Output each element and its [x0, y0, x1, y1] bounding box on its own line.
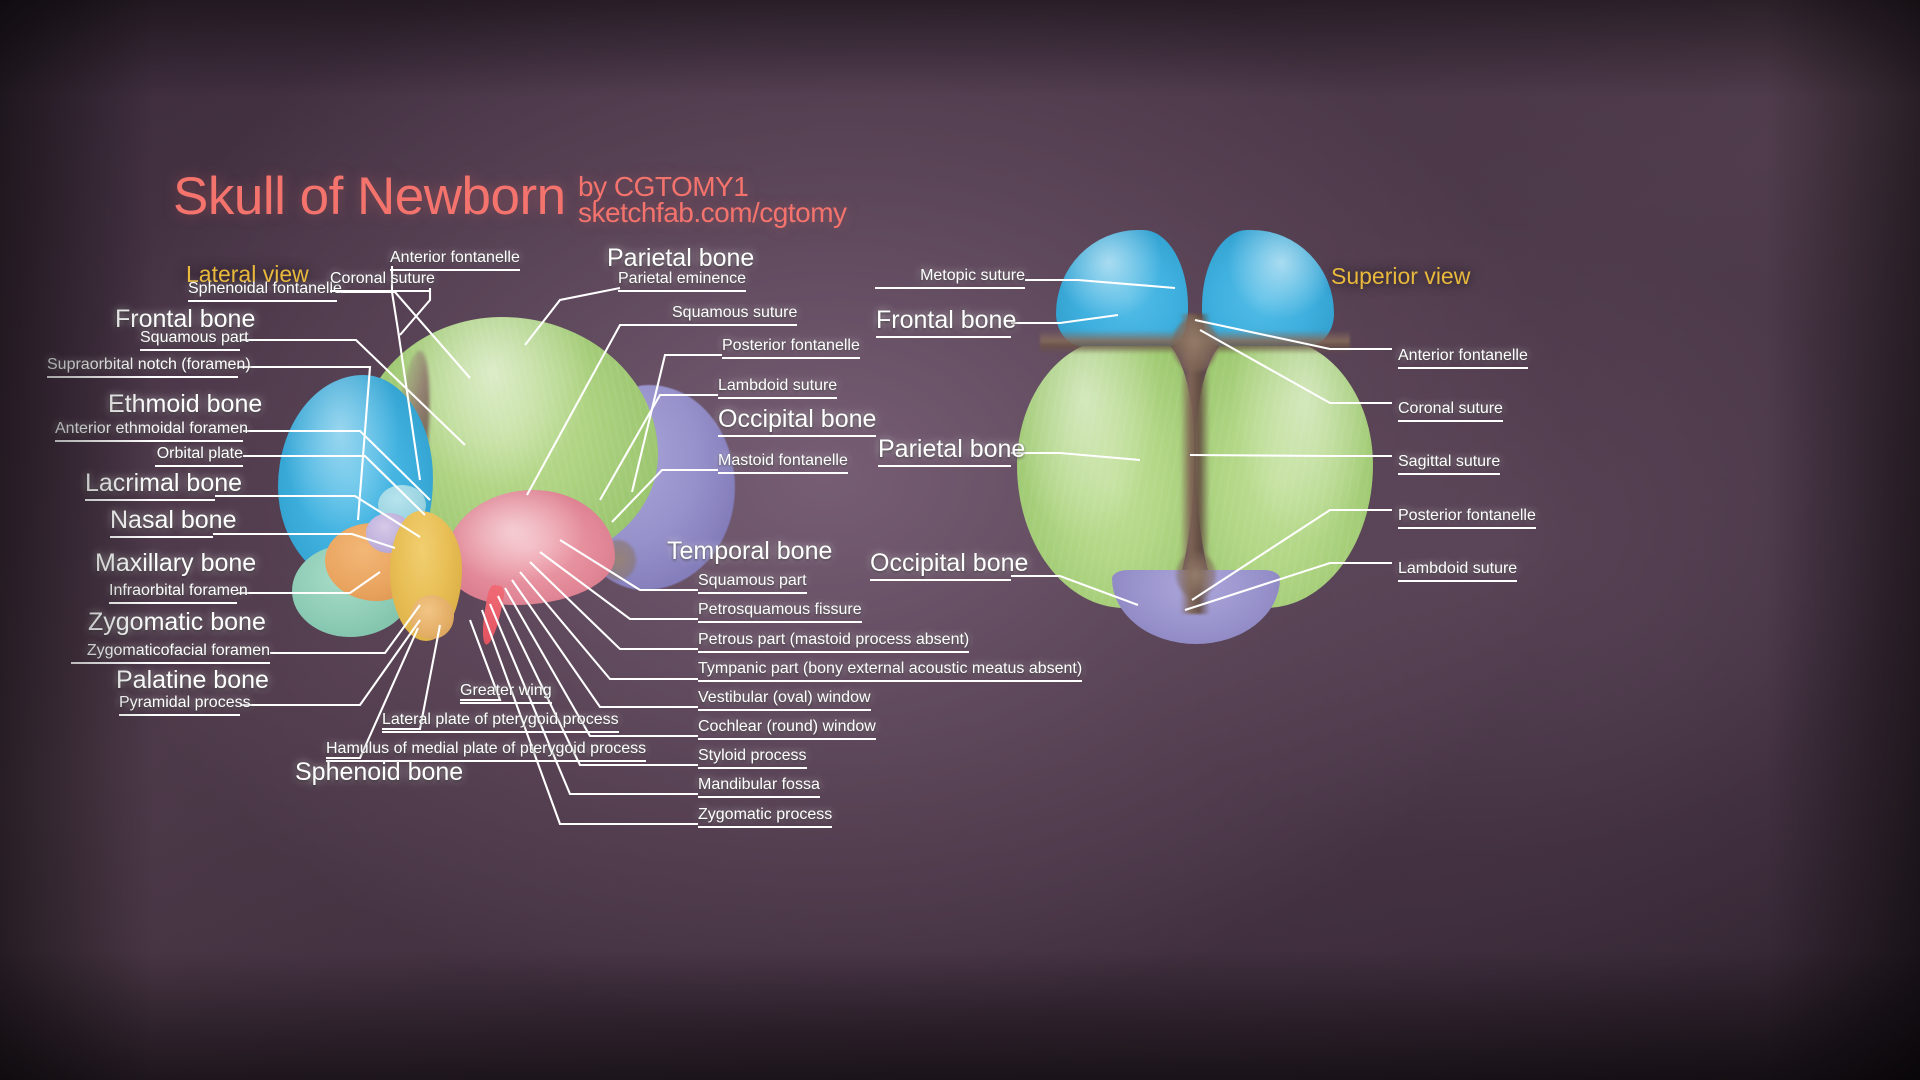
label-cochlear-window: Cochlear (round) window	[698, 719, 876, 740]
label-vestibular-window: Vestibular (oval) window	[698, 690, 871, 711]
label-zygomaticofacial-foramen: Zygomaticofacial foramen	[71, 643, 270, 664]
label-temporal-bone: Temporal bone	[667, 539, 832, 564]
label-superior-lambdoid-suture: Lambdoid suture	[1398, 561, 1517, 582]
label-anterior-fontanelle: Anterior fontanelle	[390, 250, 520, 271]
label-mastoid-fontanelle: Mastoid fontanelle	[718, 453, 848, 474]
label-infraorbital-foramen: Infraorbital foramen	[109, 583, 237, 604]
label-lambdoid-suture: Lambdoid suture	[718, 378, 837, 399]
label-posterior-fontanelle: Posterior fontanelle	[722, 338, 860, 359]
label-zygomatic-bone: Zygomatic bone	[88, 610, 266, 635]
frontal-bone-left-shape	[1056, 230, 1188, 346]
lateral-view-skull-render	[270, 295, 720, 655]
label-sphenoidal-fontanelle: Sphenoidal fontanelle	[188, 281, 337, 302]
label-styloid-process: Styloid process	[698, 748, 807, 769]
label-greater-wing: Greater wing	[460, 683, 552, 704]
label-temporal-squamous-part: Squamous part	[698, 573, 807, 594]
label-petrosquamous-fissure: Petrosquamous fissure	[698, 602, 862, 623]
label-supraorbital-notch: Supraorbital notch (foramen)	[47, 357, 238, 378]
label-frontal-squamous-part: Squamous part	[140, 330, 240, 351]
posterior-fontanelle-shape	[1176, 552, 1216, 598]
label-maxillary-bone: Maxillary bone	[95, 551, 256, 576]
frontal-bone-right-shape	[1202, 230, 1334, 346]
label-anterior-ethmoidal-foramen: Anterior ethmoidal foramen	[55, 421, 243, 442]
label-superior-sagittal-suture: Sagittal suture	[1398, 454, 1500, 475]
parietal-bone-left-shape	[1017, 338, 1194, 608]
label-occipital-bone: Occipital bone	[718, 407, 876, 437]
label-lateral-plate-pterygoid: Lateral plate of pterygoid process	[382, 712, 619, 733]
label-lacrimal-bone: Lacrimal bone	[85, 471, 215, 501]
label-parietal-eminence: Parietal eminence	[618, 271, 746, 292]
label-tympanic-part: Tympanic part (bony external acoustic me…	[698, 661, 1082, 682]
label-palatine-bone: Palatine bone	[116, 668, 269, 693]
label-petrous-part: Petrous part (mastoid process absent)	[698, 632, 969, 653]
superior-view-title: Superior view	[1331, 263, 1470, 290]
label-sphenoid-bone: Sphenoid bone	[295, 760, 463, 785]
label-superior-occipital-bone: Occipital bone	[870, 551, 1011, 581]
label-superior-anterior-fontanelle: Anterior fontanelle	[1398, 348, 1528, 369]
author-url: sketchfab.com/cgtomy	[578, 198, 847, 227]
label-parietal-bone: Parietal bone	[607, 246, 754, 271]
palatine-bone-shape	[410, 595, 454, 639]
label-superior-posterior-fontanelle: Posterior fontanelle	[1398, 508, 1536, 529]
label-superior-parietal-bone: Parietal bone	[878, 437, 1011, 467]
label-zygomatic-process: Zygomatic process	[698, 807, 832, 828]
label-orbital-plate: Orbital plate	[155, 446, 243, 467]
label-coronal-suture: Coronal suture	[330, 271, 430, 292]
label-pyramidal-process: Pyramidal process	[119, 695, 240, 716]
page-title: Skull of Newborn	[173, 170, 566, 223]
label-ethmoid-bone: Ethmoid bone	[108, 392, 262, 417]
parietal-bone-right-shape	[1196, 338, 1373, 608]
anatomy-illustration-canvas: Skull of Newborn by CGTOMY1 sketchfab.co…	[0, 0, 1920, 1080]
anterior-fontanelle-shape	[1172, 318, 1218, 372]
label-metopic-suture: Metopic suture	[875, 268, 1025, 289]
label-superior-frontal-bone: Frontal bone	[876, 308, 1011, 338]
label-mandibular-fossa: Mandibular fossa	[698, 777, 820, 798]
label-superior-coronal-suture: Coronal suture	[1398, 401, 1503, 422]
label-nasal-bone: Nasal bone	[110, 508, 213, 538]
label-squamous-suture: Squamous suture	[672, 305, 797, 326]
